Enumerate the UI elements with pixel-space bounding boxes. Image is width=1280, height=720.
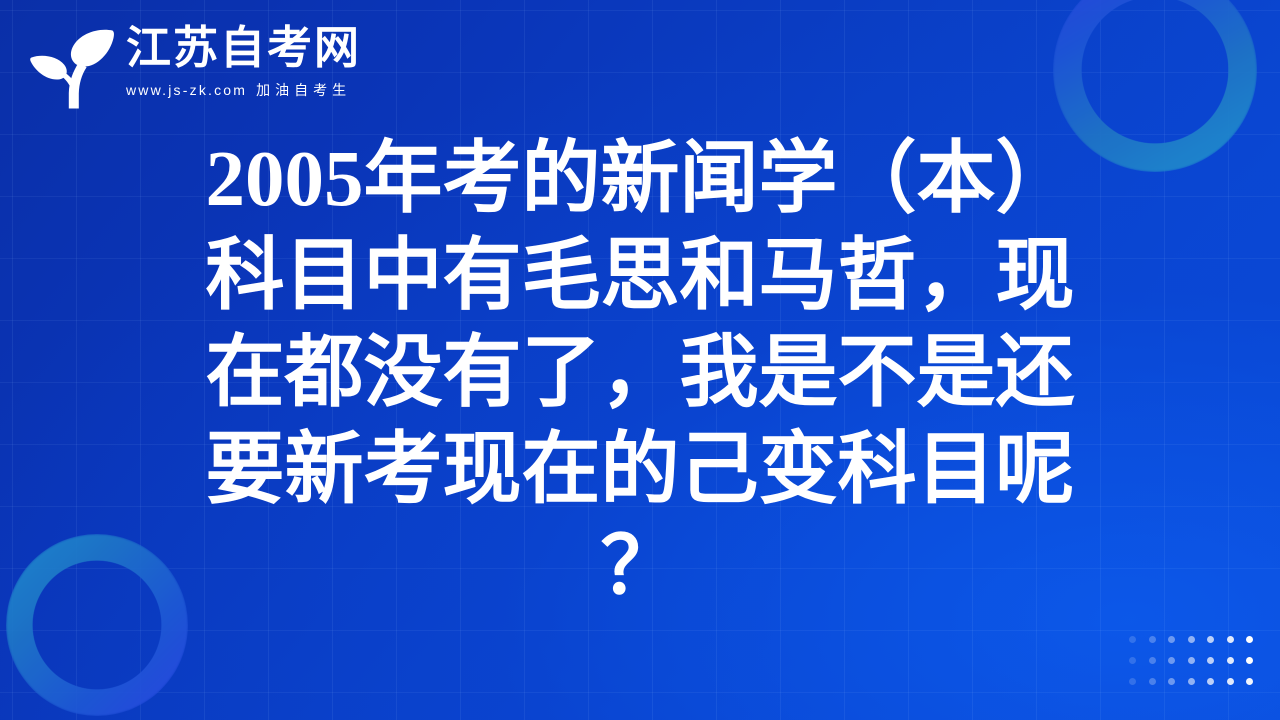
site-slogan: 加油自考生: [256, 80, 351, 100]
site-url: www.js-zk.com: [126, 82, 247, 98]
dot-grid-decoration: [1129, 636, 1266, 699]
logo-text-block: 江苏自考网 www.js-zk.com 加油自考生: [126, 22, 361, 100]
headline-line: 2005年考的新闻学（本）: [186, 131, 1094, 228]
headline-text: 2005年考的新闻学（本） 科目中有毛思和马哲，现 在都没有了，我是不是还 要新…: [186, 131, 1094, 616]
ring-bottom-left-icon: [6, 534, 188, 716]
headline-line: 科目中有毛思和马哲，现: [186, 228, 1094, 325]
brand-name: 江苏自考网: [126, 24, 361, 73]
sprout-icon: [28, 24, 116, 110]
headline-line: ？: [186, 519, 1094, 616]
promo-banner: 江苏自考网 www.js-zk.com 加油自考生 2005年考的新闻学（本） …: [0, 0, 1280, 720]
site-logo[interactable]: 江苏自考网 www.js-zk.com 加油自考生: [28, 22, 361, 110]
headline-line: 在都没有了，我是不是还: [186, 325, 1094, 422]
logo-subline: www.js-zk.com 加油自考生: [126, 80, 361, 100]
headline-line: 要新考现在的己变科目呢: [186, 422, 1094, 519]
